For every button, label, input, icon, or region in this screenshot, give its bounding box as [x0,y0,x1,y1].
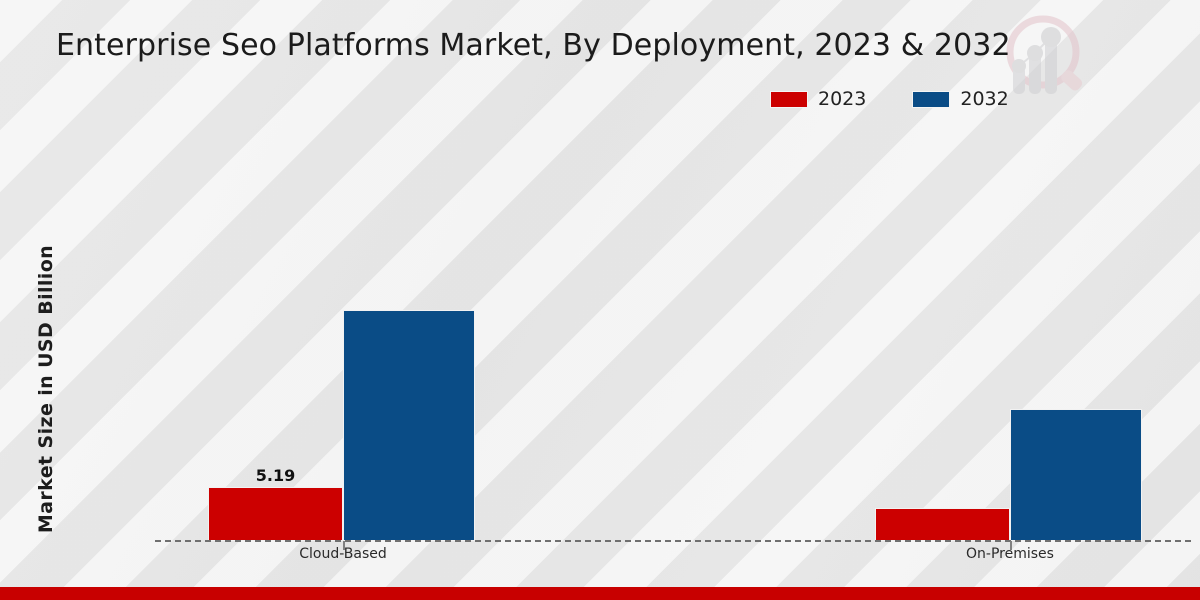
bar-on-premises-2023[interactable] [875,508,1010,541]
x-axis-label-cloud-based: Cloud-Based [243,546,443,562]
x-axis-baseline [155,540,1191,542]
x-axis-label-on-premises: On-Premises [910,546,1110,562]
bar-cloud-based-2023[interactable] [208,487,343,541]
y-axis-title: Market Size in USD Billion [35,239,57,539]
bar-cloud-based-2032[interactable] [343,310,475,541]
bar-on-premises-2032[interactable] [1010,409,1142,541]
chart-canvas: Enterprise Seo Platforms Market, By Depl… [0,0,1200,600]
bar-value-cloud-based-2023: 5.19 [208,466,343,485]
plot-area: Market Size in USD Billion 5.19 Cloud-Ba… [0,0,1200,600]
footer-accent-band [0,587,1200,600]
